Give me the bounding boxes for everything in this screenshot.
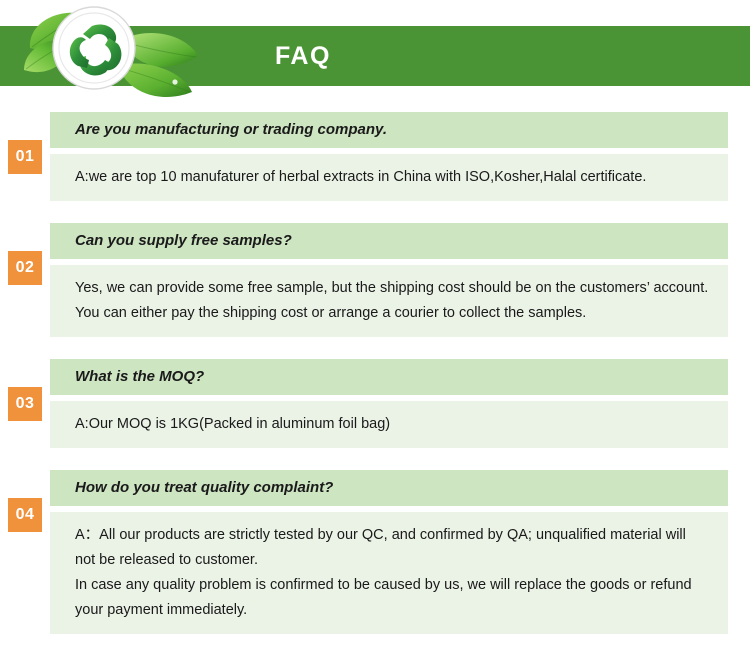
faq-answer: A:Our MOQ is 1KG(Packed in aluminum foil… <box>50 401 728 448</box>
faq-answer-line: Yes, we can provide some free sample, bu… <box>75 276 710 326</box>
faq-number-badge: 04 <box>8 498 42 532</box>
faq-question[interactable]: What is the MOQ? <box>50 359 728 395</box>
company-logo <box>18 0 223 110</box>
faq-question[interactable]: How do you treat quality complaint? <box>50 470 728 506</box>
faq-item[interactable]: 03 What is the MOQ? A:Our MOQ is 1KG(Pac… <box>0 359 750 448</box>
faq-answer: A:we are top 10 manufaturer of herbal ex… <box>50 154 728 201</box>
faq-number-badge: 03 <box>8 387 42 421</box>
faq-number-badge: 02 <box>8 251 42 285</box>
faq-answer-line: A：All our products are strictly tested b… <box>75 523 710 573</box>
faq-number-badge: 01 <box>8 140 42 174</box>
page-header: FAQ <box>0 0 750 112</box>
faq-answer-line: In case any quality problem is confirmed… <box>75 573 710 623</box>
faq-item[interactable]: 02 Can you supply free samples? Yes, we … <box>0 223 750 337</box>
faq-answer: A：All our products are strictly tested b… <box>50 512 728 634</box>
faq-item[interactable]: 01 Are you manufacturing or trading comp… <box>0 112 750 201</box>
faq-item[interactable]: 04 How do you treat quality complaint? A… <box>0 470 750 634</box>
faq-list: 01 Are you manufacturing or trading comp… <box>0 112 750 656</box>
faq-question[interactable]: Can you supply free samples? <box>50 223 728 259</box>
page-title: FAQ <box>275 26 331 86</box>
faq-answer-line: A:Our MOQ is 1KG(Packed in aluminum foil… <box>75 412 710 437</box>
faq-question[interactable]: Are you manufacturing or trading company… <box>50 112 728 148</box>
faq-answer: Yes, we can provide some free sample, bu… <box>50 265 728 337</box>
faq-answer-line: A:we are top 10 manufaturer of herbal ex… <box>75 165 710 190</box>
leaf-recycle-logo-icon <box>18 0 223 110</box>
